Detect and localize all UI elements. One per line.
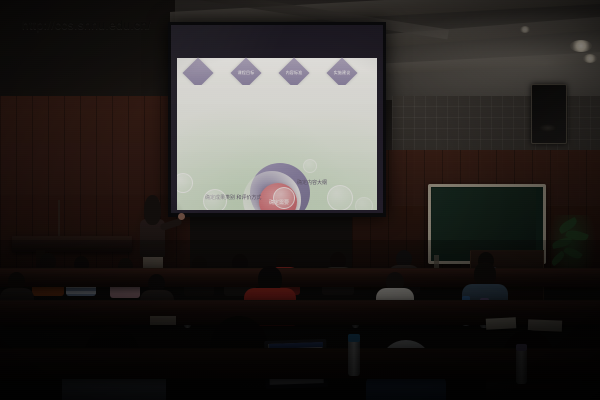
slide-diamond-3: 内容标准 — [278, 57, 309, 88]
ceiling-light — [520, 26, 530, 33]
slide-bubble — [203, 189, 227, 210]
ceiling-light — [570, 40, 592, 52]
presenter-hand — [178, 213, 185, 220]
speaker-cone-icon — [539, 124, 557, 132]
slide-diamond-4: 实施建议 — [326, 57, 357, 88]
presenter-hair — [144, 195, 161, 225]
room-shadow — [0, 240, 600, 400]
slide-bubble — [355, 197, 373, 210]
slide-bubble — [303, 159, 317, 173]
slide-diamond-2: 课程目标 — [230, 57, 261, 88]
slide-body: 确定内容大纲 确定成果类别 和评价方式 确定需要 设计内容活动 — [177, 85, 377, 210]
wall-speaker — [531, 84, 567, 144]
projection-screen: 课程目标 内容标准 实施建议 确定内容大纲 确定成果类别 和评价方式 确定需要 … — [171, 25, 383, 213]
ceiling-light — [583, 54, 597, 63]
watermark-url: http://ccs.snnu.edu.cn/ — [22, 18, 151, 32]
lecture-hall-photo: 课程目标 内容标准 实施建议 确定内容大纲 确定成果类别 和评价方式 确定需要 … — [0, 0, 600, 400]
slide-bubble — [273, 187, 295, 209]
slide-label-right: 确定内容大纲 — [297, 179, 327, 186]
slide-bubble — [327, 185, 353, 210]
microphone-stand — [58, 200, 60, 240]
